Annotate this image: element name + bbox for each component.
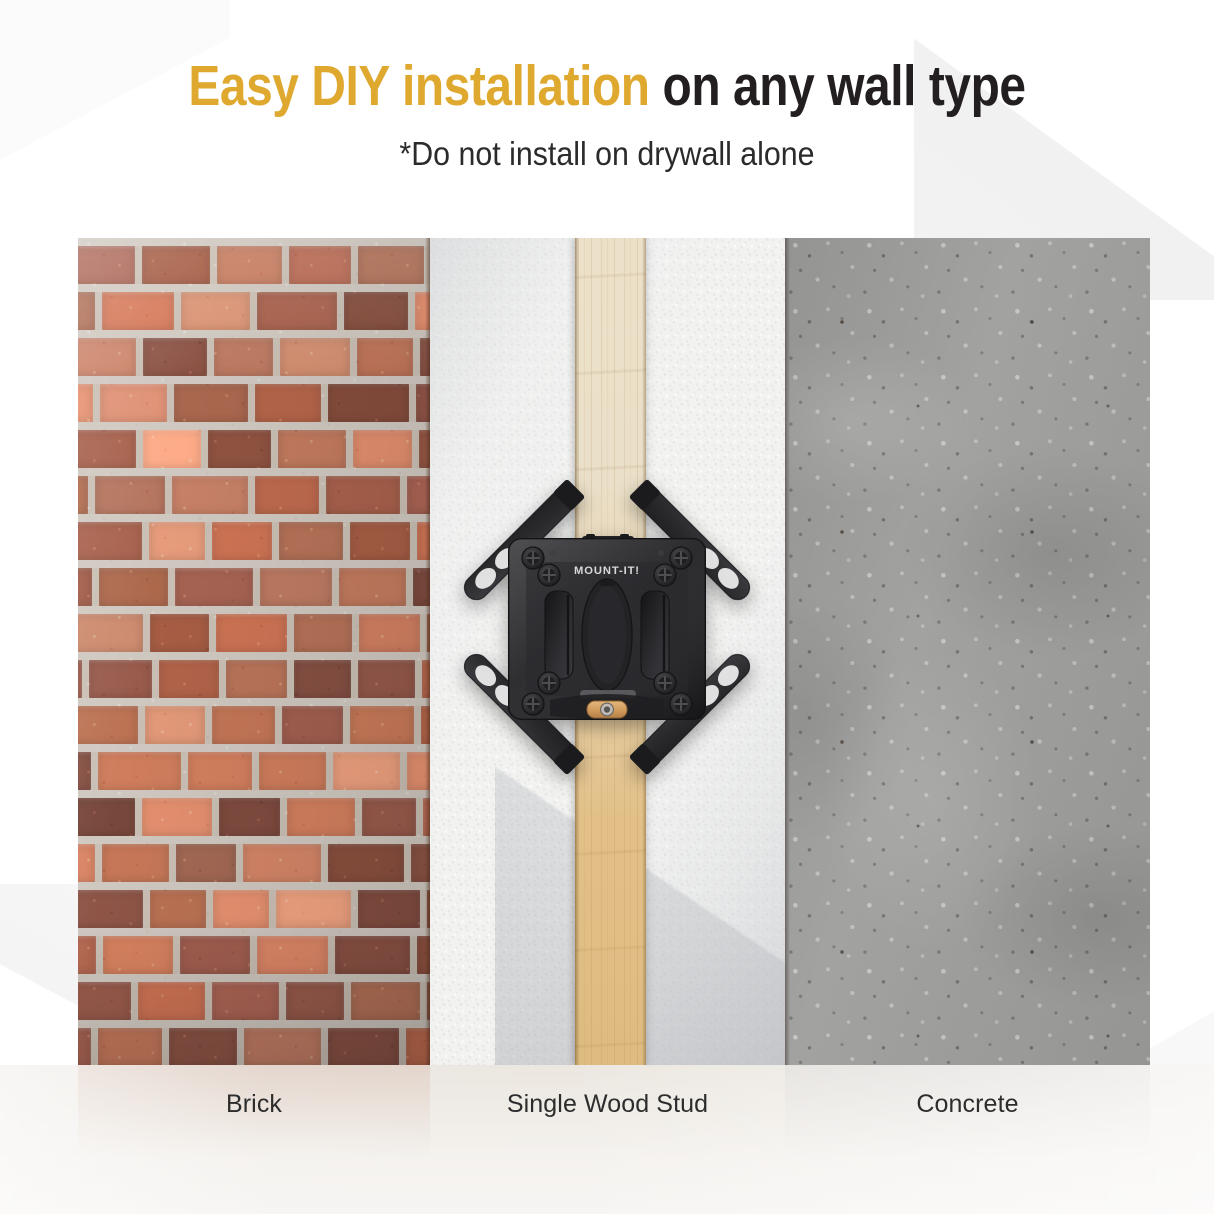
concrete-shading-overlay bbox=[785, 238, 1150, 1065]
mount-slot-right bbox=[641, 591, 669, 679]
headline-plain-text: on any wall type bbox=[650, 54, 1026, 118]
mount-screw-bottom-left bbox=[522, 693, 544, 715]
floor-surface bbox=[0, 1065, 1214, 1214]
tv-wall-mount: MOUNT-IT! bbox=[430, 450, 784, 804]
mount-screw-bottom-right bbox=[670, 693, 692, 715]
page-subtitle: *Do not install on drywall alone bbox=[49, 135, 1166, 173]
caption-row: Brick Single Wood Stud Concrete bbox=[78, 1090, 1150, 1119]
mount-screw-bottom-left-inner bbox=[538, 672, 560, 694]
mount-screw-top-left-inner bbox=[538, 564, 560, 586]
mount-center-oval bbox=[582, 579, 632, 691]
headline-block: Easy DIY installation on any wall type *… bbox=[0, 56, 1214, 173]
mount-screw-top-right-inner bbox=[654, 564, 676, 586]
caption-single-wood-stud: Single Wood Stud bbox=[430, 1090, 785, 1119]
page-title: Easy DIY installation on any wall type bbox=[97, 56, 1117, 118]
mount-screw-top-left bbox=[522, 547, 544, 569]
mount-slot-left bbox=[545, 591, 573, 679]
mount-dimple-right bbox=[658, 550, 664, 556]
caption-concrete: Concrete bbox=[785, 1090, 1150, 1119]
headline-accent-text: Easy DIY installation bbox=[188, 54, 649, 118]
brick-shading-overlay bbox=[78, 238, 430, 1065]
panel-brick bbox=[78, 238, 430, 1065]
mount-back-plate: MOUNT-IT! bbox=[508, 538, 706, 720]
mount-screw-top-right bbox=[670, 547, 692, 569]
brick-unit bbox=[423, 798, 430, 836]
mount-center-nub bbox=[600, 580, 615, 586]
caption-brick: Brick bbox=[78, 1090, 430, 1119]
infographic-canvas: Easy DIY installation on any wall type *… bbox=[0, 0, 1214, 1214]
mount-screw-bottom-right-inner bbox=[654, 672, 676, 694]
panel-concrete bbox=[785, 238, 1150, 1065]
mount-dimple-left bbox=[550, 550, 556, 556]
bubble-level bbox=[587, 701, 627, 718]
brand-logo-text: MOUNT-IT! bbox=[574, 565, 640, 577]
